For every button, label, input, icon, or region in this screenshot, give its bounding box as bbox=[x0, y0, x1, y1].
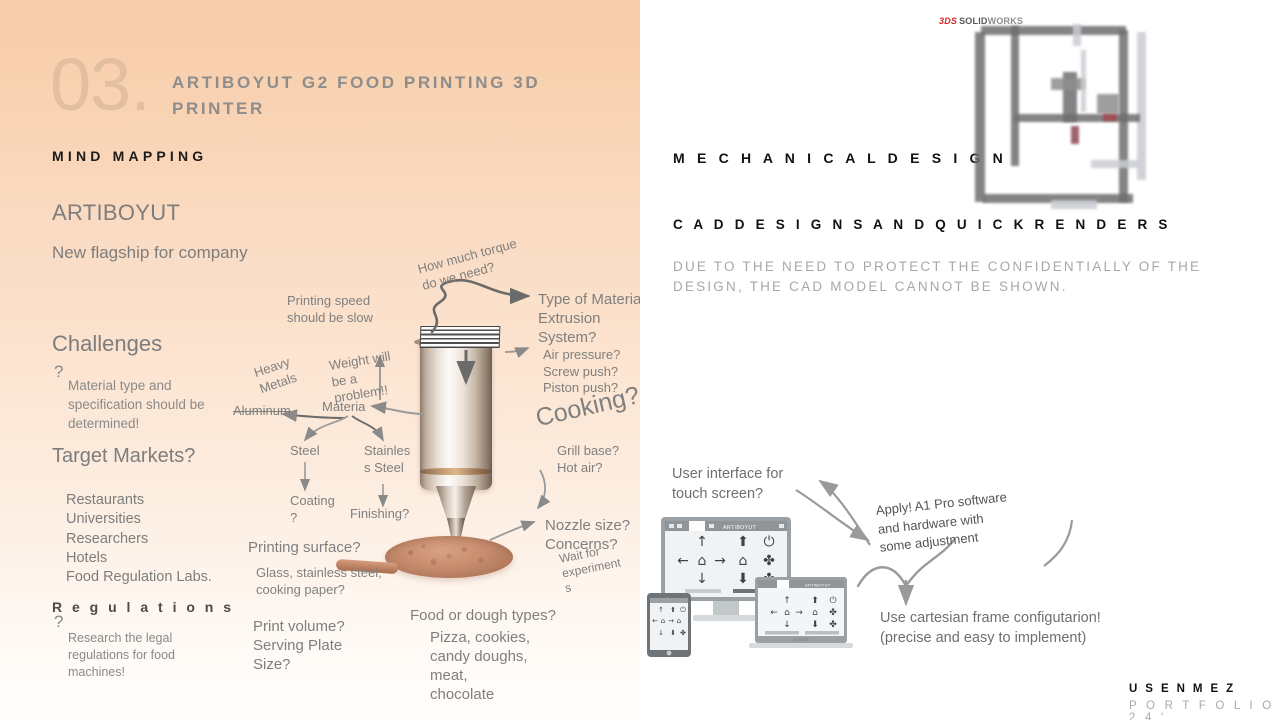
list-item: Universities bbox=[66, 510, 212, 529]
note-materia: Materia bbox=[322, 399, 365, 416]
list-item: Food Regulation Labs. bbox=[66, 568, 212, 587]
svg-text:⬇: ⬇ bbox=[811, 620, 819, 630]
solidworks-logo: 3DSSOLIDWORKS bbox=[939, 16, 1023, 26]
mind-mapping-label: MIND MAPPING bbox=[52, 148, 207, 164]
svg-text:→: → bbox=[714, 553, 726, 569]
svg-text:⌂: ⌂ bbox=[784, 608, 790, 618]
note-grill-base: Grill base? Hot air? bbox=[557, 443, 639, 476]
svg-text:✤: ✤ bbox=[829, 608, 837, 618]
regulations-heading: R e g u l a t i o n s bbox=[52, 599, 234, 615]
svg-text:⏻: ⏻ bbox=[680, 606, 686, 614]
solidworks-works: WORKS bbox=[988, 16, 1024, 26]
slide-number: 03. bbox=[50, 48, 150, 122]
svg-text:⌂: ⌂ bbox=[677, 617, 681, 625]
slide-canvas: 03. ARTIBOYUT G2 FOOD PRINTING 3D PRINTE… bbox=[0, 0, 1280, 720]
extruder-cone bbox=[436, 486, 476, 520]
annotation-a1-pro: Apply! A1 Pro software and hardware with… bbox=[875, 488, 1012, 557]
svg-text:✤: ✤ bbox=[763, 553, 775, 569]
note-food-types-list: Pizza, cookies, candy doughs, meat, choc… bbox=[430, 628, 534, 704]
extruder-cap bbox=[420, 326, 501, 348]
regulations-text: Research the legal regulations for food … bbox=[68, 630, 198, 681]
svg-text:→: → bbox=[668, 617, 674, 625]
svg-text:↑: ↑ bbox=[783, 596, 791, 606]
svg-text:⬇: ⬇ bbox=[670, 629, 676, 637]
challenges-question-marker: ? bbox=[54, 362, 63, 382]
brand-name: ARTIBOYUT bbox=[52, 200, 180, 226]
note-heavy-metals: Heavy Metals bbox=[252, 348, 316, 397]
svg-text:✤: ✤ bbox=[829, 620, 837, 630]
svg-text:ARTIBOYUT: ARTIBOYUT bbox=[723, 525, 757, 531]
note-type-of-material: Type of Material Extrusion System? bbox=[538, 290, 640, 347]
note-stainless-steel: Stainles s Steel bbox=[364, 443, 410, 476]
svg-text:←: ← bbox=[770, 608, 778, 618]
touch-ui-mockup: ARTIBOYUT ↑⬆⏻ ←⌂→ ⌂✤ ↓⬇✤ ARTIBOYUT bbox=[645, 515, 855, 660]
solidworks-solid: SOLID bbox=[959, 16, 988, 26]
cad-disclaimer: DUE TO THE NEED TO PROTECT THE CONFIDENT… bbox=[673, 257, 1273, 297]
footer-portfolio: P O R T F O L I O 2 4 ' bbox=[1129, 700, 1280, 720]
svg-text:⬆: ⬆ bbox=[737, 534, 749, 550]
svg-text:✤: ✤ bbox=[680, 629, 686, 637]
tagline: New flagship for company bbox=[52, 243, 248, 263]
note-torque: How much torque do we need? bbox=[416, 234, 531, 294]
note-surface-materials: Glass, stainless steel, cooking paper? bbox=[256, 565, 392, 598]
note-printing-speed: Printing speed should be slow bbox=[287, 293, 387, 326]
svg-text:←: ← bbox=[677, 553, 689, 569]
solidworks-mark: 3DS bbox=[939, 16, 957, 26]
svg-text:↑: ↑ bbox=[658, 606, 664, 614]
note-steel: Steel bbox=[290, 443, 320, 460]
regulations-question-marker: ? bbox=[54, 612, 63, 632]
svg-text:⌂: ⌂ bbox=[812, 608, 818, 618]
mind-mapping-panel: 03. ARTIBOYUT G2 FOOD PRINTING 3D PRINTE… bbox=[0, 0, 640, 720]
svg-text:→: → bbox=[795, 608, 803, 618]
svg-text:⏻: ⏻ bbox=[763, 534, 774, 550]
annotation-cartesian-frame: Use cartesian frame configutarion! (prec… bbox=[880, 608, 1110, 648]
slide-title: ARTIBOYUT G2 FOOD PRINTING 3D PRINTER bbox=[172, 70, 592, 122]
note-aluminum: Aluminum bbox=[233, 403, 287, 420]
svg-text:↓: ↓ bbox=[696, 571, 708, 587]
list-item: Researchers bbox=[66, 530, 212, 549]
list-item: Hotels bbox=[66, 549, 212, 568]
note-food-types-heading: Food or dough types? bbox=[410, 606, 556, 625]
challenges-heading: Challenges bbox=[52, 331, 162, 357]
extruder-ring bbox=[420, 468, 492, 475]
footer-author: U S E N M E Z bbox=[1129, 683, 1236, 695]
svg-text:↓: ↓ bbox=[658, 629, 664, 637]
svg-text:⬆: ⬆ bbox=[811, 596, 819, 606]
challenges-text: Material type and specification should b… bbox=[68, 376, 228, 433]
svg-text:⌂: ⌂ bbox=[739, 553, 748, 569]
food-printer-illustration bbox=[398, 318, 528, 598]
target-markets-list: Restaurants Universities Researchers Hot… bbox=[66, 491, 212, 587]
note-print-volume: Print volume? Serving Plate Size? bbox=[253, 617, 383, 674]
svg-text:⬆: ⬆ bbox=[670, 606, 676, 614]
dough-texture bbox=[385, 536, 513, 578]
svg-text:⬇: ⬇ bbox=[737, 571, 749, 587]
note-printing-surface: Printing surface? bbox=[248, 538, 361, 557]
list-item: Restaurants bbox=[66, 491, 212, 510]
svg-text:↑: ↑ bbox=[696, 534, 708, 550]
svg-text:←: ← bbox=[652, 617, 658, 625]
target-markets-heading: Target Markets? bbox=[52, 445, 195, 468]
mechanical-design-panel: M E C H A N I C A L D E S I G N C A D D … bbox=[640, 0, 1280, 720]
cad-render: 3DSSOLIDWORKS bbox=[923, 10, 1223, 225]
svg-text:↓: ↓ bbox=[783, 620, 791, 630]
svg-text:⏻: ⏻ bbox=[829, 595, 836, 606]
annotation-user-interface: User interface for touch screen? bbox=[672, 464, 800, 504]
svg-text:⌂: ⌂ bbox=[698, 553, 707, 569]
note-coating: Coating ? bbox=[290, 493, 334, 526]
note-finishing: Finishing? bbox=[350, 506, 409, 523]
svg-text:⌂: ⌂ bbox=[661, 617, 665, 625]
svg-text:ARTIBOYUT: ARTIBOYUT bbox=[805, 583, 831, 588]
